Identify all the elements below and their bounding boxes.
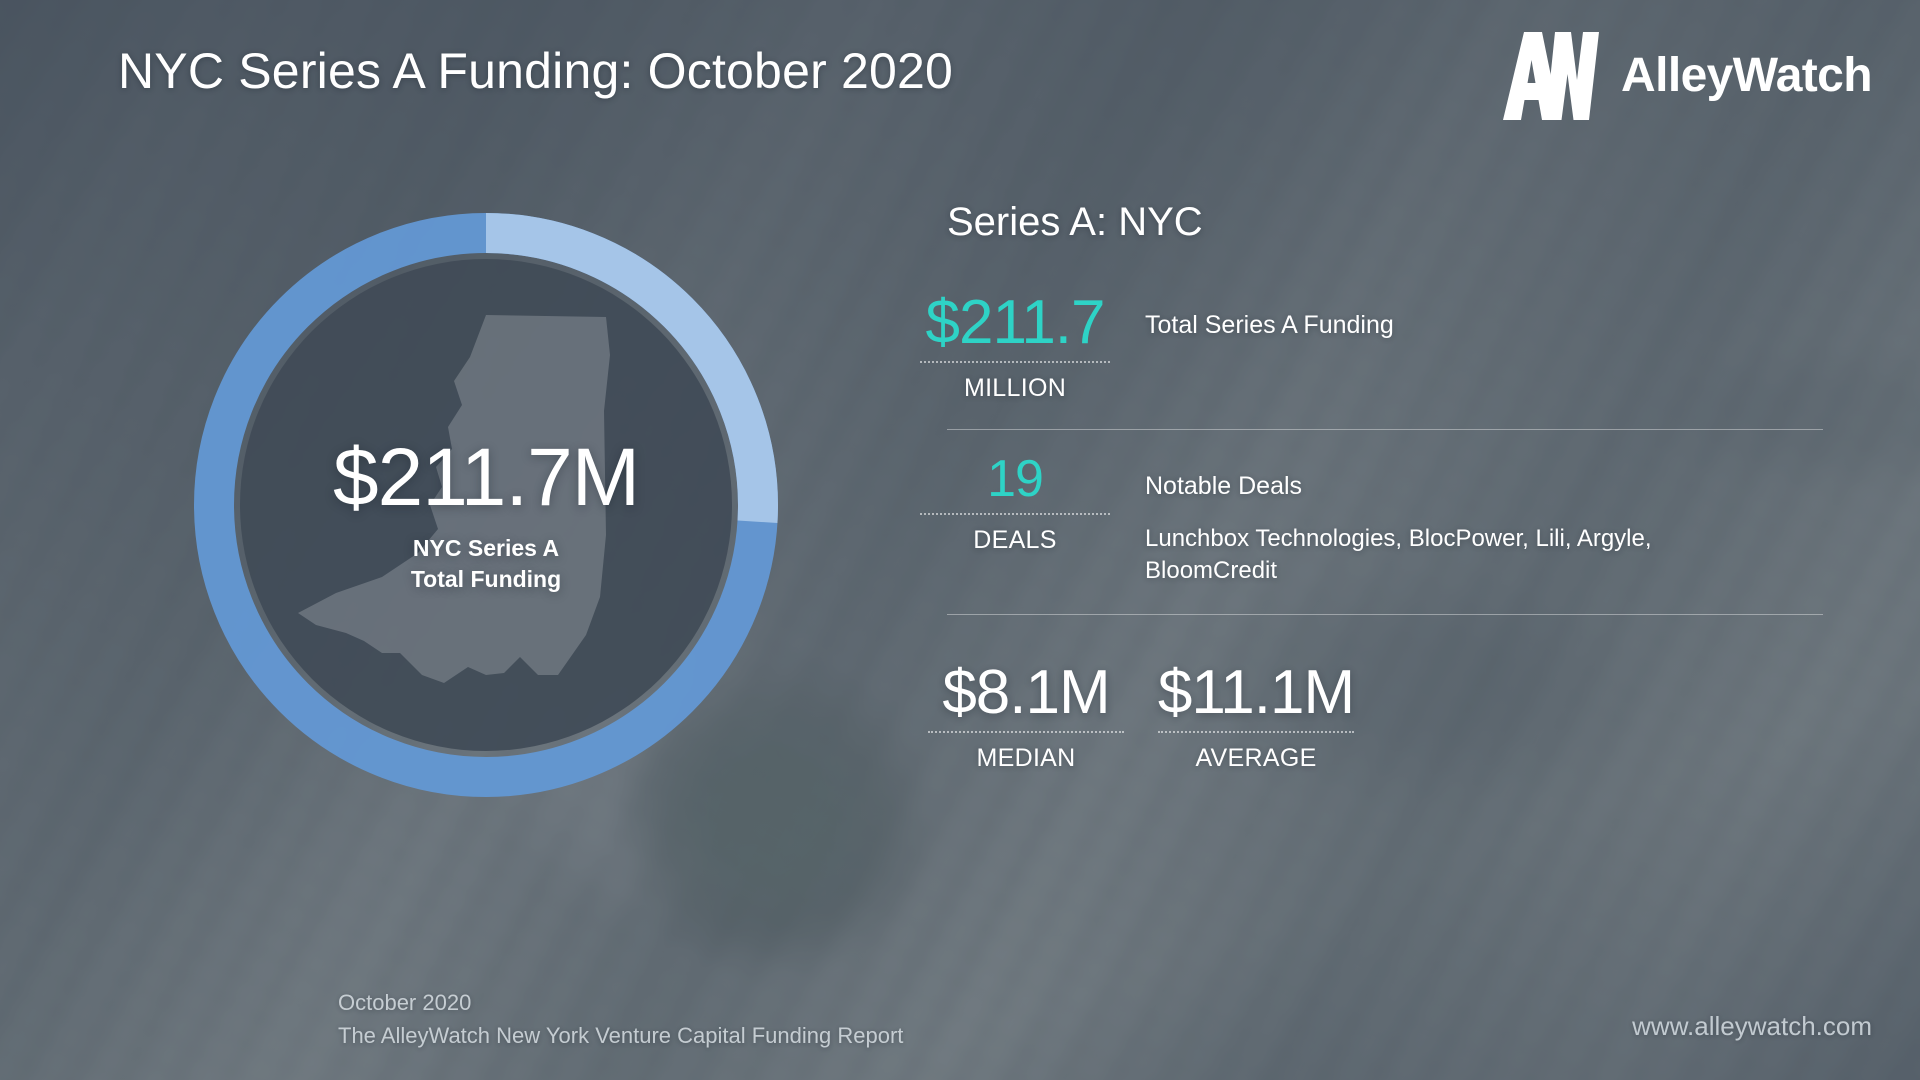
stat-row-total: $211.7 MILLION Total Series A Funding [905,291,1865,403]
stat-median-unit: MEDIAN [911,744,1141,773]
stat-total-description: Total Series A Funding [1145,291,1394,342]
stat-row-median-average: $8.1M MEDIAN $11.1M AVERAGE [911,661,1865,773]
donut-value: $211.7M [186,437,786,519]
donut-sublabel-line2: Total Funding [186,564,786,595]
stat-deals-divider [920,513,1110,515]
stat-deals-list: Lunchbox Technologies, BlocPower, Lili, … [1145,523,1725,588]
donut-chart: $211.7M NYC Series A Total Funding [186,205,786,805]
alleywatch-logo: AlleyWatch [1498,30,1872,122]
panel-title: Series A: NYC [947,200,1865,245]
panel-separator-1 [947,429,1823,430]
stat-average-divider [1158,731,1354,733]
stat-deals: 19 DEALS [905,452,1125,554]
stat-deals-unit: DEALS [905,526,1125,555]
stat-total-label: Total Series A Funding [1145,309,1394,342]
stat-total-unit: MILLION [905,374,1125,403]
panel-separator-2 [947,614,1823,615]
donut-sublabel: NYC Series A Total Funding [186,533,786,594]
footer-website[interactable]: www.alleywatch.com [1632,1011,1872,1042]
stat-deals-label: Notable Deals [1145,470,1725,503]
donut-sublabel-line1: NYC Series A [186,533,786,564]
stat-total-value: $211.7 [905,291,1125,355]
stat-median-divider [928,731,1124,733]
stat-average-value: $11.1M [1141,661,1371,725]
donut-center-label: $211.7M NYC Series A Total Funding [186,437,786,594]
stat-row-deals: 19 DEALS Notable Deals Lunchbox Technolo… [905,452,1865,587]
footer-report-name: The AlleyWatch New York Venture Capital … [338,1019,903,1052]
stat-average: $11.1M AVERAGE [1141,661,1371,773]
stat-deals-description: Notable Deals Lunchbox Technologies, Blo… [1145,452,1725,587]
logo-wordmark: AlleyWatch [1621,52,1872,100]
stat-total-divider [920,361,1110,363]
stat-average-unit: AVERAGE [1141,744,1371,773]
infographic-canvas: NYC Series A Funding: October 2020 Alley… [0,0,1920,1080]
aw-monogram-icon [1498,30,1603,122]
stat-median-value: $8.1M [911,661,1141,725]
stat-total-funding: $211.7 MILLION [905,291,1125,403]
page-title: NYC Series A Funding: October 2020 [118,42,953,100]
stat-median: $8.1M MEDIAN [911,661,1141,773]
footer-period: October 2020 [338,986,903,1019]
stat-deals-value: 19 [905,452,1125,506]
stats-panel: Series A: NYC $211.7 MILLION Total Serie… [905,200,1865,773]
footer-caption: October 2020 The AlleyWatch New York Ven… [338,986,903,1052]
